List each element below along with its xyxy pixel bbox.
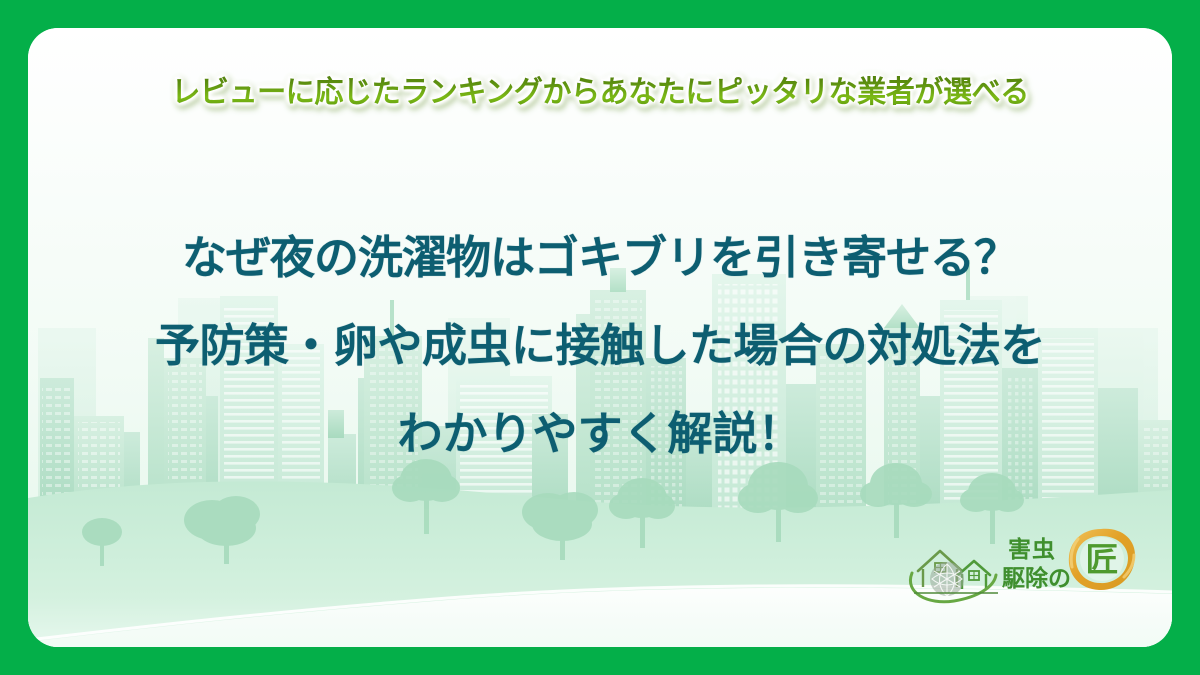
banner-text-wrap: レビューに応じたランキングからあなたにピッタリな業者が選べる レビューに応じたラ… [158,74,1042,112]
page-title: なぜ夜の洗濯物はゴキブリを引き寄せる？ 予防策・卵や成虫に接触した場合の対処法を… [28,214,1172,478]
headline-line-1: なぜ夜の洗濯物はゴキブリを引き寄せる？ [28,214,1172,302]
headline-line-2: 予防策・卵や成虫に接触した場合の対処法を [28,302,1172,390]
logo-seal-char: 匠 [1086,540,1119,579]
headline-line-3: わかりやすく解説！ [28,390,1172,478]
logo-text-line1: 害虫 [1008,536,1056,563]
brand-logo: 害虫 駆除の 匠 [904,519,1136,605]
banner-text: レビューに応じたランキングからあなたにピッタリな業者が選べる [171,74,1029,112]
seal-badge: 匠 [1069,529,1135,590]
banner-ribbon: レビューに応じたランキングからあなたにピッタリな業者が選べる レビューに応じたラ… [28,74,1172,112]
thumbnail-canvas: レビューに応じたランキングからあなたにピッタリな業者が選べる レビューに応じたラ… [0,0,1200,675]
logo-text-line2: 駆除の [1002,565,1071,592]
house-icon [910,551,998,602]
content-card: レビューに応じたランキングからあなたにピッタリな業者が選べる レビューに応じたラ… [28,28,1172,647]
